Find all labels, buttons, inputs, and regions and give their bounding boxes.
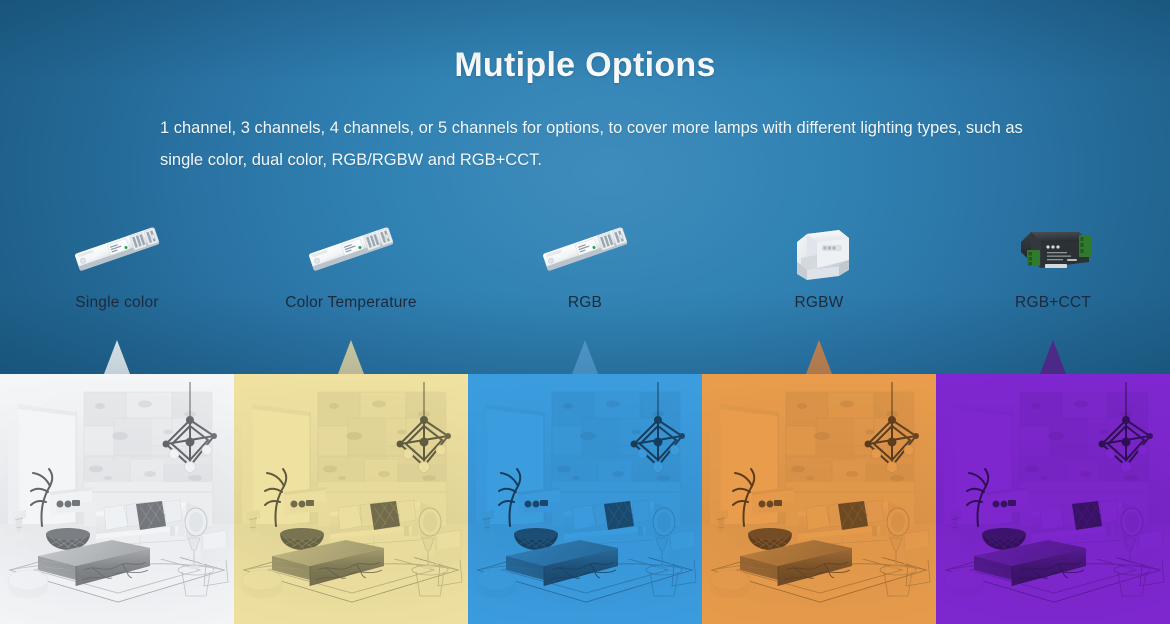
- arrow-up-icon: [1040, 340, 1066, 374]
- room-preview-panels: [0, 374, 1170, 624]
- room-panel-color-temperature[interactable]: [234, 374, 468, 624]
- color-glow-overlay: [468, 374, 702, 624]
- arrow-up-icon: [104, 340, 130, 374]
- arrow-cell-rgbw: [702, 340, 936, 374]
- product-label: RGBW: [794, 294, 843, 312]
- product-label: RGB+CCT: [1015, 294, 1091, 312]
- room-panel-single-color[interactable]: [0, 374, 234, 624]
- arrow-up-icon: [572, 340, 598, 374]
- led-controller-din-rail-icon: [749, 218, 889, 280]
- product-label: Color Temperature: [285, 294, 416, 312]
- product-option-single-color[interactable]: Single color: [0, 218, 234, 338]
- product-option-rgb-cct[interactable]: RGB+CCT: [936, 218, 1170, 338]
- hero-banner: Mutiple Options 1 channel, 3 channels, 4…: [0, 0, 1170, 374]
- product-option-rgbw[interactable]: RGBW: [702, 218, 936, 338]
- color-glow-overlay: [936, 374, 1170, 624]
- led-controller-white-small-icon: [515, 218, 655, 280]
- page-title: Mutiple Options: [0, 46, 1170, 85]
- arrow-cell-single-color: [0, 340, 234, 374]
- room-panel-rgb[interactable]: [468, 374, 702, 624]
- arrow-pointers-row: [0, 340, 1170, 374]
- hero-description: 1 channel, 3 channels, 4 channels, or 5 …: [160, 112, 1030, 176]
- led-controller-white-small-icon: [281, 218, 421, 280]
- product-option-color-temperature[interactable]: Color Temperature: [234, 218, 468, 338]
- arrow-cell-rgb-cct: [936, 340, 1170, 374]
- color-glow-overlay: [0, 374, 234, 624]
- product-label: RGB: [568, 294, 602, 312]
- arrow-up-icon: [806, 340, 832, 374]
- color-glow-overlay: [702, 374, 936, 624]
- product-label: Single color: [75, 294, 158, 312]
- product-options-row: Single color: [0, 218, 1170, 338]
- arrow-up-icon: [338, 340, 364, 374]
- room-panel-rgbw[interactable]: [702, 374, 936, 624]
- room-panel-rgb-cct[interactable]: [936, 374, 1170, 624]
- led-controller-white-small-icon: [47, 218, 187, 280]
- product-option-rgb[interactable]: RGB: [468, 218, 702, 338]
- arrow-cell-color-temperature: [234, 340, 468, 374]
- led-controller-black-terminals-icon: [983, 218, 1123, 280]
- color-glow-overlay: [234, 374, 468, 624]
- arrow-cell-rgb: [468, 340, 702, 374]
